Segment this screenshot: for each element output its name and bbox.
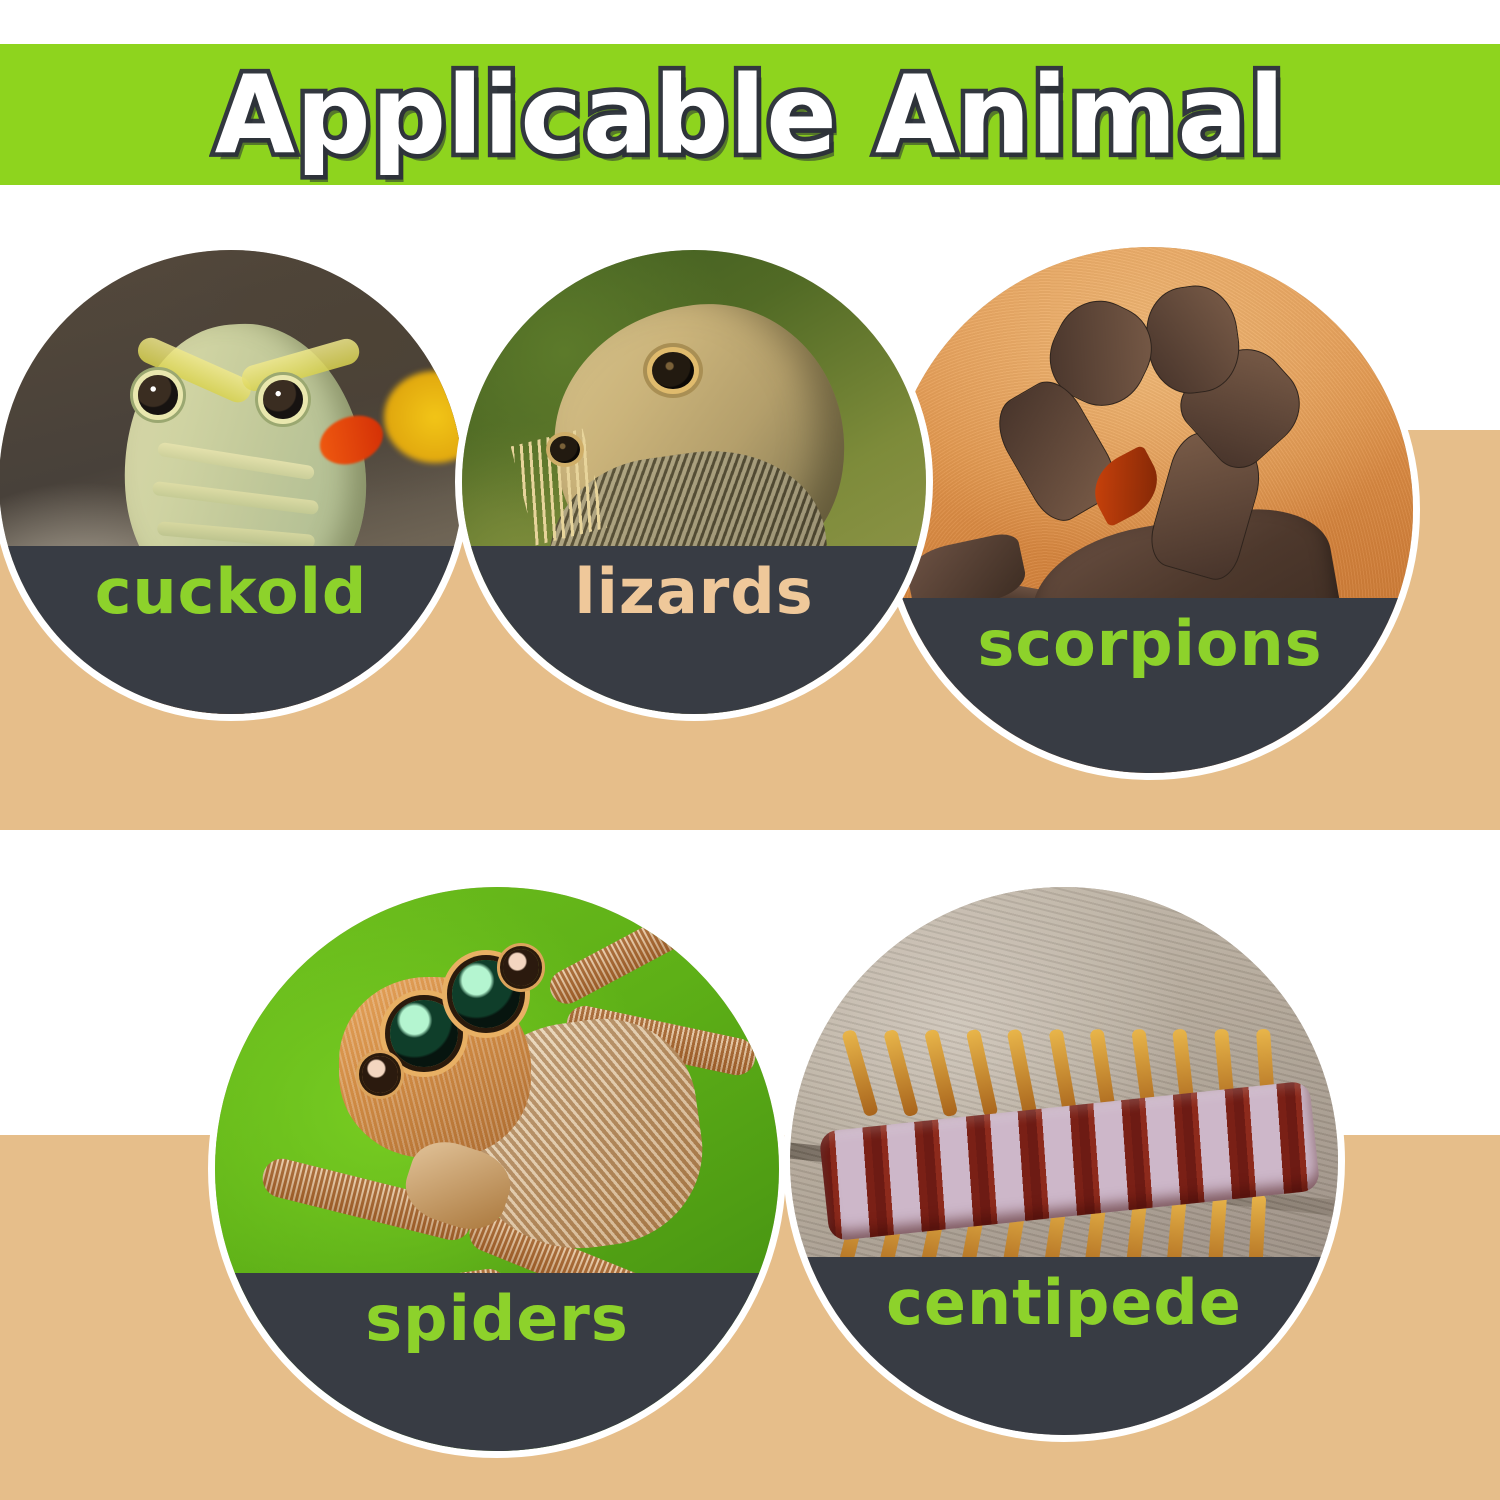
card-label-band: centipede: [783, 1257, 1345, 1435]
card-label-scorpions: scorpions: [977, 598, 1322, 676]
spider-eye: [390, 1000, 458, 1068]
animal-card-scorpions[interactable]: scorpions: [880, 240, 1420, 780]
centipede-body: [818, 1081, 1320, 1242]
turtle-eye: [138, 375, 177, 414]
card-label-band: scorpions: [880, 598, 1420, 773]
centipede-leg: [883, 1029, 919, 1117]
centipede-leg: [1007, 1029, 1038, 1118]
animal-card-spiders[interactable]: spiders: [208, 880, 786, 1458]
page-title: Applicable Animal: [215, 60, 1286, 168]
turtle-eye: [263, 380, 302, 419]
animal-card-cuckold[interactable]: cuckold: [0, 243, 470, 721]
spider-leg: [544, 900, 709, 1009]
card-label-lizards: lizards: [574, 546, 813, 624]
spider-eye: [503, 949, 540, 986]
spider-eye: [362, 1056, 399, 1093]
centipede-leg: [965, 1029, 998, 1118]
card-label-band: lizards: [455, 546, 933, 714]
card-label-centipede: centipede: [886, 1257, 1242, 1335]
animal-card-lizards[interactable]: lizards: [455, 243, 933, 721]
card-label-cuckold: cuckold: [95, 546, 367, 624]
title-banner: Applicable Animal: [0, 44, 1500, 185]
animal-card-centipede[interactable]: centipede: [783, 880, 1345, 1442]
infographic-canvas: Applicable Animal cuckold: [0, 0, 1500, 1500]
card-label-band: spiders: [208, 1273, 786, 1451]
card-label-band: cuckold: [0, 546, 470, 714]
dragon-eye: [652, 352, 694, 389]
centipede-leg: [841, 1029, 879, 1117]
card-label-spiders: spiders: [365, 1273, 628, 1351]
turtle-background-blur: [384, 371, 463, 464]
centipede-leg: [924, 1029, 958, 1118]
